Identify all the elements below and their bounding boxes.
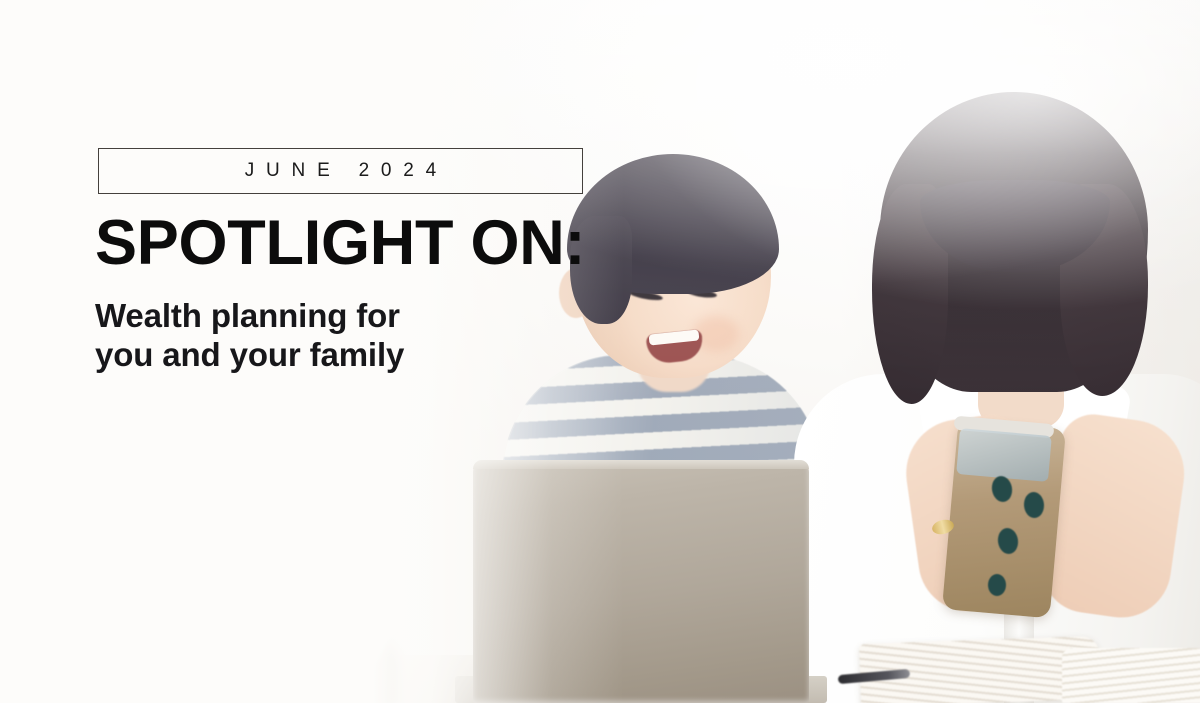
page-title: SPOTLIGHT ON: (95, 212, 585, 275)
text-overlay: JUNE 2024 SPOTLIGHT ON: Wealth planning … (0, 0, 1200, 703)
spotlight-banner: JUNE 2024 SPOTLIGHT ON: Wealth planning … (0, 0, 1200, 703)
date-badge: JUNE 2024 (98, 148, 583, 194)
date-label: JUNE 2024 (233, 160, 448, 182)
subtitle-line-2: you and your family (95, 336, 404, 375)
page-subtitle: Wealth planning for you and your family (95, 297, 404, 375)
subtitle-line-1: Wealth planning for (95, 297, 404, 336)
